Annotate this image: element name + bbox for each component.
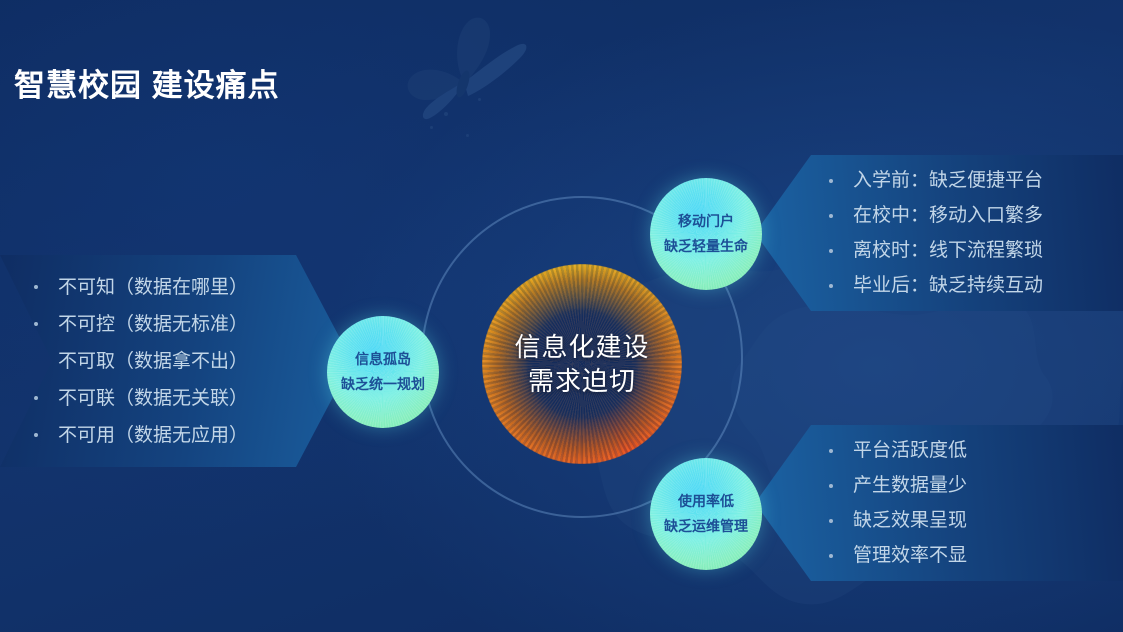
center-hub[interactable]: 信息化建设 需求迫切: [482, 264, 682, 464]
list-item-label: 入学前：缺乏便捷平台: [853, 171, 1043, 190]
list-item-label: 毕业后：缺乏持续互动: [853, 276, 1043, 295]
bullet-dot-icon: [34, 322, 38, 326]
bubble-label-line2: 缺乏运维管理: [664, 519, 748, 534]
list-item: 不可控（数据无标准）: [34, 315, 352, 334]
list-item-label: 在校中：移动入口繁多: [853, 206, 1043, 225]
bubble-label-line1: 使用率低: [678, 494, 734, 509]
list-item-label: 平台活跃度低: [853, 441, 967, 460]
list-item-label: 产生数据量少: [853, 476, 967, 495]
bullet-dot-icon: [34, 396, 38, 400]
speck-dot: [478, 98, 481, 101]
bullet-dot-icon: [829, 554, 833, 558]
bubble-low-usage[interactable]: 使用率低 缺乏运维管理: [650, 458, 762, 570]
list-item: 离校时：线下流程繁琐: [829, 241, 1123, 260]
page-title: 智慧校园 建设痛点: [14, 60, 280, 105]
list-item-label: 不可联（数据无关联）: [58, 389, 248, 408]
list-item: 不可联（数据无关联）: [34, 389, 352, 408]
bubble-label-line1: 信息孤岛: [355, 352, 411, 367]
list-item-label: 缺乏效果呈现: [853, 511, 967, 530]
list-item: 产生数据量少: [829, 476, 1123, 495]
list-item: 平台活跃度低: [829, 441, 1123, 460]
list-item: 不可知（数据在哪里）: [34, 278, 352, 297]
bullet-dot-icon: [829, 449, 833, 453]
speck-dot: [430, 126, 433, 129]
list-item-label: 不可用（数据无应用）: [58, 426, 248, 445]
butterfly-icon: [400, 8, 530, 128]
slide-canvas: 智慧校园 建设痛点 不可知（数据在哪里） 不可控（数据无标准） 不可取（数据拿不…: [0, 0, 1123, 632]
list-item: 管理效率不显: [829, 546, 1123, 565]
list-item: 不可用（数据无应用）: [34, 426, 352, 445]
list-item-label: 离校时：线下流程繁琐: [853, 241, 1043, 260]
bullet-dot-icon: [829, 179, 833, 183]
bullet-dot-icon: [829, 249, 833, 253]
speck-dot: [444, 112, 448, 116]
bubble-mobile-portal[interactable]: 移动门户 缺乏轻量生命: [650, 178, 762, 290]
hub-label: 信息化建设 需求迫切: [482, 264, 682, 464]
list-item-label: 不可控（数据无标准）: [58, 315, 248, 334]
bubble-label-line2: 缺乏轻量生命: [664, 239, 748, 254]
panel-top-right-lifecycle[interactable]: 入学前：缺乏便捷平台 在校中：移动入口繁多 离校时：线下流程繁琐 毕业后：缺乏持…: [755, 155, 1123, 311]
bullet-dot-icon: [829, 284, 833, 288]
panel-bottom-right-usage[interactable]: 平台活跃度低 产生数据量少 缺乏效果呈现 管理效率不显: [755, 425, 1123, 581]
list-item: 在校中：移动入口繁多: [829, 206, 1123, 225]
bullet-dot-icon: [829, 214, 833, 218]
list-item: 缺乏效果呈现: [829, 511, 1123, 530]
panel-left-pain-points[interactable]: 不可知（数据在哪里） 不可控（数据无标准） 不可取（数据拿不出） 不可联（数据无…: [0, 255, 352, 467]
bubble-label-line1: 移动门户: [678, 214, 734, 229]
hub-label-line2: 需求迫切: [528, 364, 636, 398]
bullet-dot-icon: [34, 359, 38, 363]
bubble-label-line2: 缺乏统一规划: [341, 377, 425, 392]
list-item-label: 不可知（数据在哪里）: [58, 278, 248, 297]
hub-label-line1: 信息化建设: [514, 330, 649, 364]
speck-dot: [466, 134, 469, 137]
bullet-dot-icon: [34, 285, 38, 289]
bullet-dot-icon: [829, 484, 833, 488]
bubble-information-island[interactable]: 信息孤岛 缺乏统一规划: [327, 316, 439, 428]
list-item-label: 管理效率不显: [853, 546, 967, 565]
list-item: 不可取（数据拿不出）: [34, 352, 352, 371]
list-item: 毕业后：缺乏持续互动: [829, 276, 1123, 295]
bullet-dot-icon: [829, 519, 833, 523]
list-item-label: 不可取（数据拿不出）: [58, 352, 248, 371]
list-item: 入学前：缺乏便捷平台: [829, 171, 1123, 190]
bullet-dot-icon: [34, 433, 38, 437]
